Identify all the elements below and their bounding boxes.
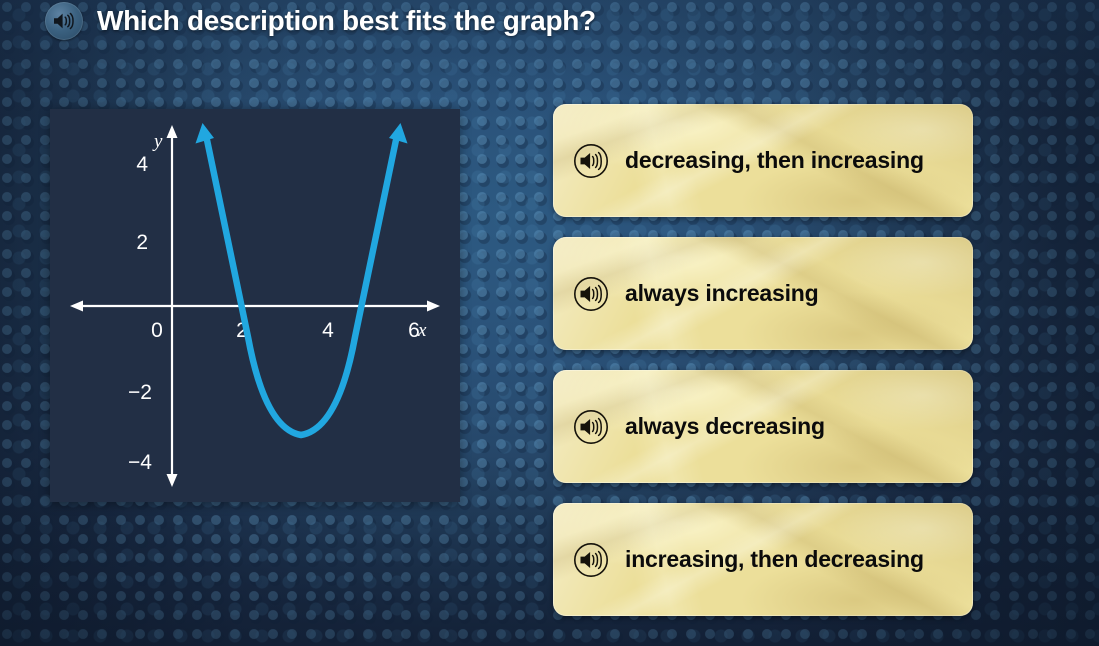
speaker-icon[interactable] bbox=[573, 542, 609, 578]
speaker-icon[interactable] bbox=[573, 143, 609, 179]
speaker-icon[interactable] bbox=[573, 276, 609, 312]
y-axis-label: y bbox=[152, 131, 163, 152]
answer-option-c[interactable]: always decreasing bbox=[553, 370, 973, 483]
answer-label: decreasing, then increasing bbox=[625, 147, 924, 174]
answer-option-d[interactable]: increasing, then decreasing bbox=[553, 503, 973, 616]
question-header: Which description best fits the graph? bbox=[0, 0, 1099, 44]
answer-label: increasing, then decreasing bbox=[625, 546, 924, 573]
page-title: Which description best fits the graph? bbox=[97, 5, 596, 37]
y-tick-neg2: −2 bbox=[128, 381, 152, 404]
y-tick-2: 2 bbox=[136, 231, 148, 254]
speaker-icon[interactable] bbox=[573, 409, 609, 445]
answer-label: always decreasing bbox=[625, 413, 825, 440]
graph-panel: y x 4 2 −2 −4 0 2 4 6 bbox=[50, 109, 460, 502]
x-tick-6: 6 bbox=[408, 319, 420, 342]
answer-options-list: decreasing, then increasing always incre… bbox=[553, 104, 973, 616]
answer-option-a[interactable]: decreasing, then increasing bbox=[553, 104, 973, 217]
speaker-icon[interactable] bbox=[45, 2, 83, 40]
y-tick-4: 4 bbox=[136, 153, 148, 176]
answer-option-b[interactable]: always increasing bbox=[553, 237, 973, 350]
parabola-curve bbox=[196, 123, 408, 435]
x-axis bbox=[70, 301, 440, 312]
parabola-chart: y x 4 2 −2 −4 0 2 4 6 bbox=[50, 109, 460, 502]
answer-label: always increasing bbox=[625, 280, 818, 307]
x-tick-4: 4 bbox=[322, 319, 334, 342]
y-tick-neg4: −4 bbox=[128, 451, 152, 474]
x-tick-0: 0 bbox=[151, 319, 163, 342]
